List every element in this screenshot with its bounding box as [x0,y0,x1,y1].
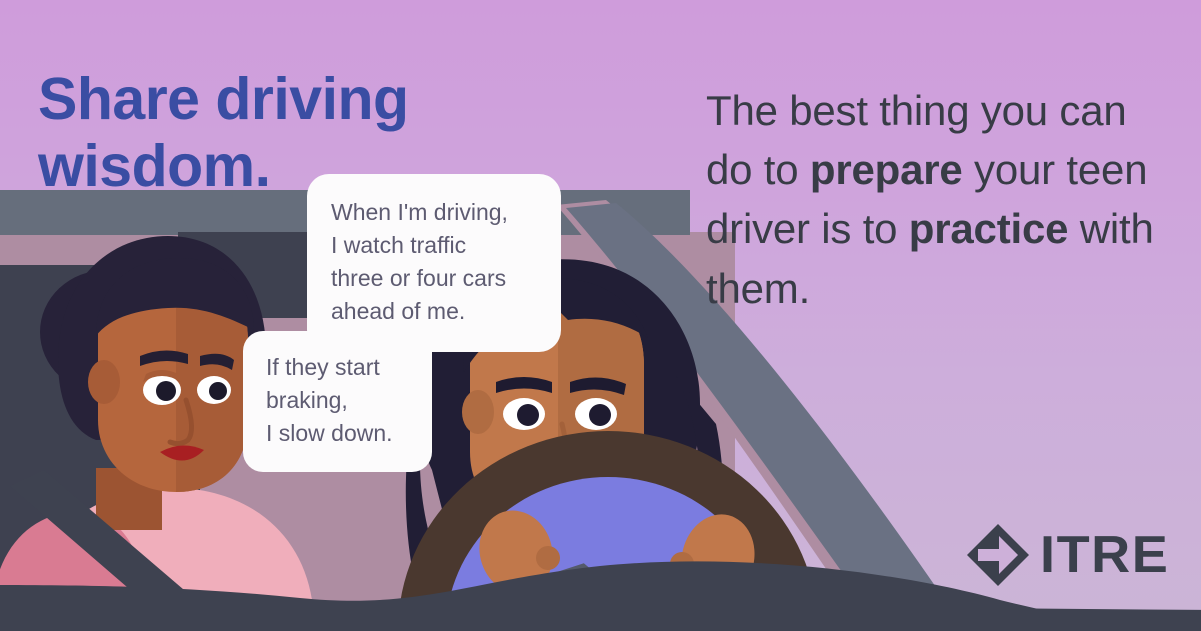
passenger-pupil-left [156,381,176,401]
headline-line-1: Share driving [38,66,409,132]
driver-ear [462,390,494,434]
speech-bubble-primary: When I'm driving, I watch traffic three … [307,174,561,352]
speech-bubble-secondary-text: If they start braking, I slow down. [266,351,409,450]
itre-logo: ITRE [966,519,1156,591]
itre-wordmark: ITRE [1040,529,1169,581]
passenger-pupil-right [209,382,227,400]
passenger-ear [88,360,120,404]
speech-bubble-secondary: If they start braking, I slow down. [243,331,432,472]
driver-pupil-left [517,404,539,426]
diamond-arrow-icon [966,523,1030,587]
dashboard-base [0,612,1201,631]
driver-pupil-right [589,404,611,426]
body-copy-emphasis-practice: practice [909,205,1069,252]
page-title: Share driving wisdom. [38,66,668,201]
body-copy: The best thing you can do to prepare you… [706,81,1176,318]
headline-line-2: wisdom. [38,133,668,200]
speech-bubble-primary-text: When I'm driving, I watch traffic three … [331,196,537,328]
poster-canvas: Share driving wisdom. The best thing you… [0,0,1201,631]
driver-thumb-left [536,546,560,570]
body-copy-emphasis-prepare: prepare [810,146,963,193]
